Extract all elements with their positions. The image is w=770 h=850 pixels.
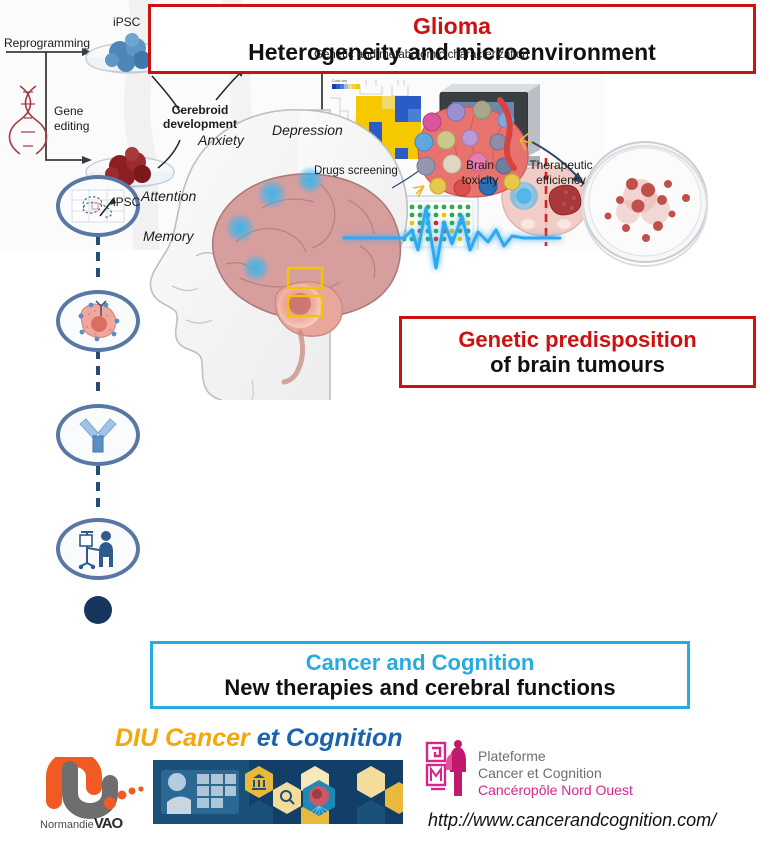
rail-item-patient-infusion[interactable] — [56, 518, 140, 580]
wf-therapeutic-line1: Therapeutic — [524, 158, 598, 172]
wf-cerebroid-line2: development — [154, 117, 246, 131]
website-url[interactable]: http://www.cancerandcognition.com/ — [428, 810, 716, 831]
normandie-vao-logo[interactable]: NormandieVAO — [40, 757, 150, 837]
diu-title-part1: DIU Cancer — [115, 724, 250, 752]
scene-label-memory: Memory — [143, 228, 194, 244]
genetic-banner-title: Genetic predisposition — [458, 327, 696, 352]
icon-rail — [0, 0, 150, 640]
wf-brain-toxicity-line1: Brain — [452, 158, 508, 172]
wf-ipsc-top: iPSC — [113, 15, 140, 29]
glioma-banner: Glioma Heterogeneity and microenvironmen… — [148, 4, 756, 74]
cancer-cognition-banner: Cancer and Cognition New therapies and c… — [150, 641, 690, 709]
cognition-banner-subtitle: New therapies and cerebral functions — [224, 675, 615, 700]
rail-item-antibody[interactable] — [56, 404, 140, 466]
wf-reprogramming: Reprogramming — [4, 36, 90, 50]
rail-end-node — [84, 596, 112, 624]
wf-cerebroid-line1: Cerebroid — [154, 103, 246, 117]
research-banner-image — [153, 760, 403, 824]
wf-drugs-screening: Drugs screening — [314, 165, 398, 177]
plateforme-line2: Cancer et Cognition — [478, 765, 633, 782]
patient-infusion-icon — [74, 528, 122, 570]
genetic-banner-subtitle: of brain tumours — [490, 352, 665, 377]
diu-title: DIU Cancer et Cognition — [115, 724, 403, 753]
plateforme-wordmark: Plateforme Cancer et Cognition Cancéropô… — [478, 748, 633, 799]
cognition-banner-title: Cancer and Cognition — [306, 650, 535, 675]
normandie-vao-wordmark: NormandieVAO — [40, 815, 122, 832]
wf-therapeutic-line2: efficiency — [524, 173, 598, 187]
wf-characterization: Genetic and metabolomic characterization — [314, 49, 529, 61]
scene-label-anxiety: Anxiety — [198, 132, 244, 148]
diu-title-part2: et Cognition — [250, 724, 403, 752]
wf-brain-toxicity-line2: toxicity — [452, 173, 508, 187]
normandie-word: Normandie — [40, 819, 94, 831]
genetic-predisposition-banner: Genetic predisposition of brain tumours — [399, 316, 756, 388]
plateforme-line3: Cancéropôle Nord Ouest — [478, 782, 633, 799]
plateforme-line1: Plateforme — [478, 748, 633, 765]
rail-connector — [96, 236, 100, 284]
glioma-banner-title: Glioma — [413, 13, 491, 39]
vao-word: VAO — [94, 815, 122, 832]
rail-item-tumour-cell[interactable] — [56, 290, 140, 352]
wf-gene-editing-line1: Gene — [54, 104, 83, 118]
rail-connector — [96, 466, 100, 514]
plateforme-mark — [424, 740, 470, 802]
wf-gene-editing-line2: editing — [54, 119, 89, 133]
research-banner-graphic — [153, 760, 403, 824]
antibody-icon — [76, 415, 120, 455]
normandie-vao-mark — [40, 757, 150, 819]
wf-ipsc-bottom: iPSC — [113, 195, 140, 209]
plateforme-logo[interactable] — [424, 740, 470, 802]
tumour-cell-icon — [73, 300, 123, 342]
rail-connector — [96, 350, 100, 398]
petri-dish-icon — [583, 142, 707, 266]
scene-label-depression: Depression — [272, 122, 343, 138]
